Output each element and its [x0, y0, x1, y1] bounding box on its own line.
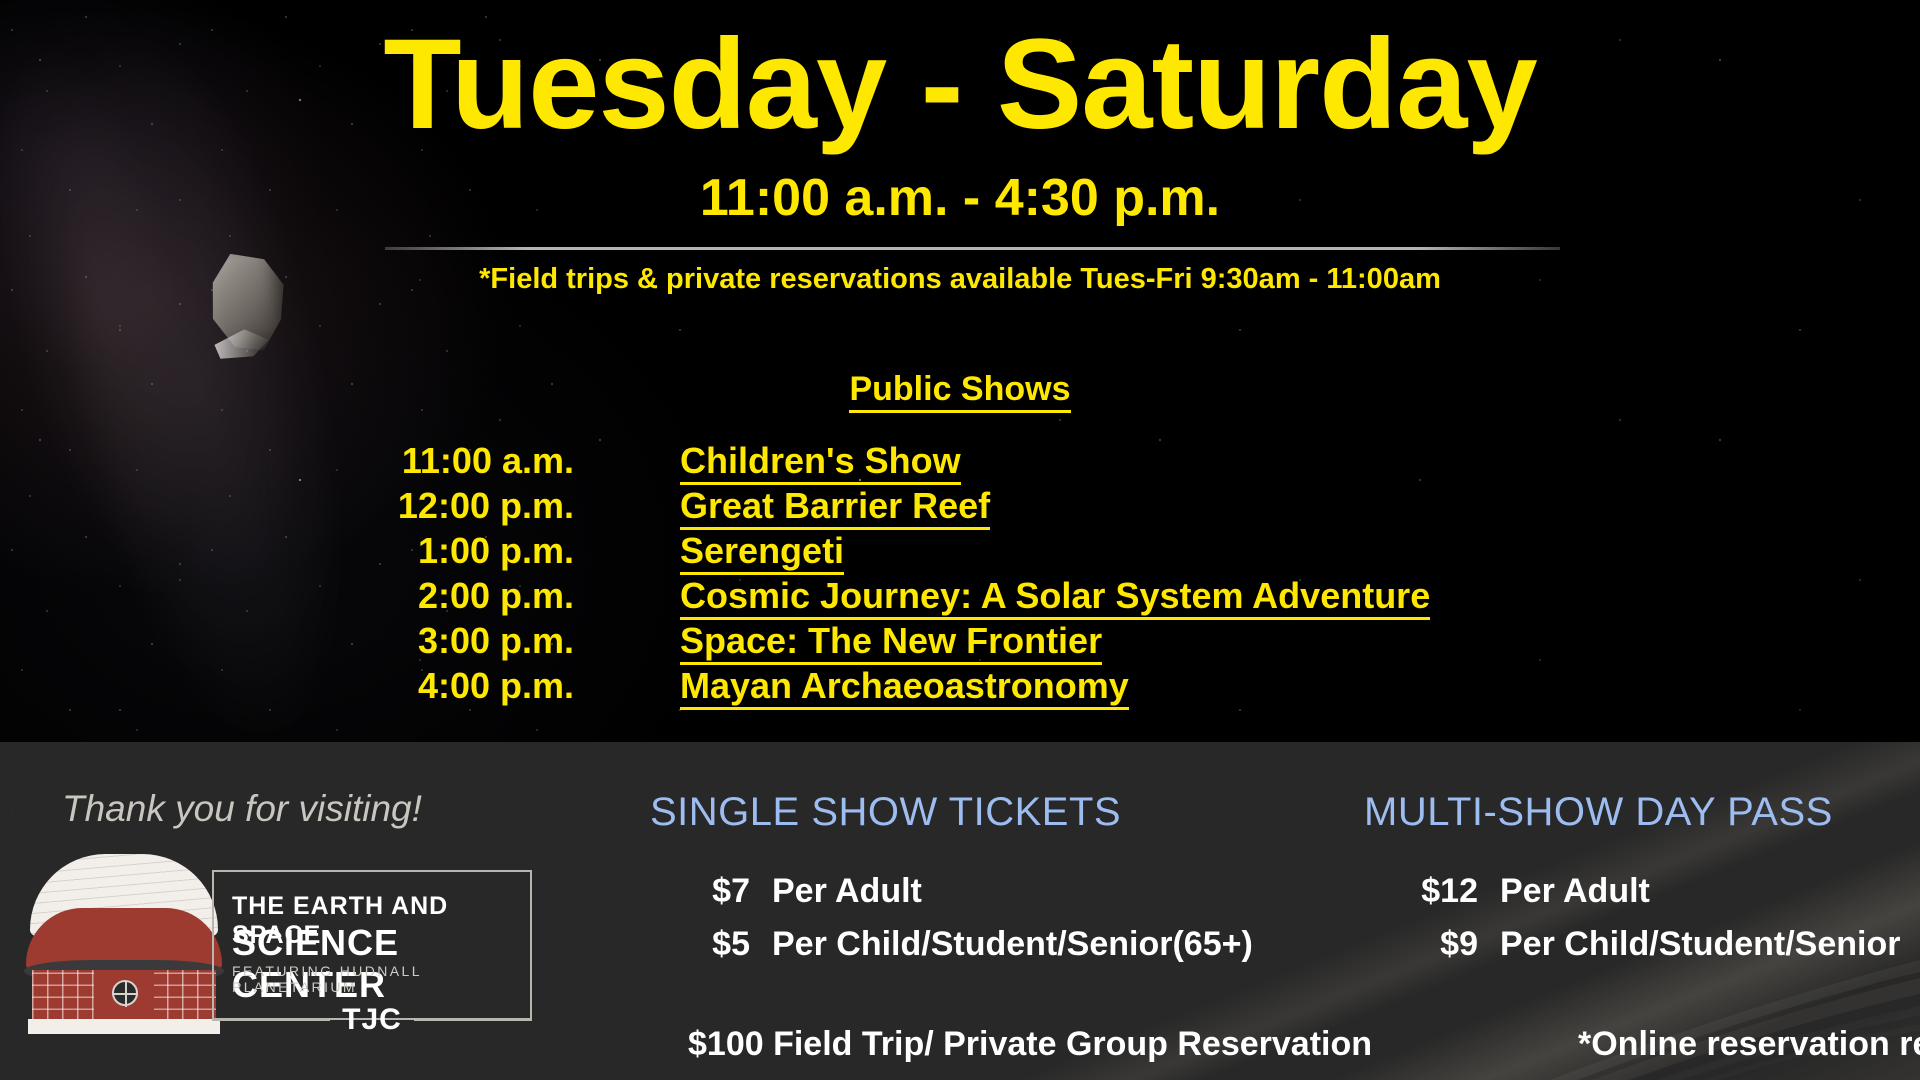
schedule-time: 2:00 p.m.	[0, 575, 680, 617]
show-schedule-list: 11:00 a.m. Children's Show 12:00 p.m. Gr…	[0, 440, 1920, 710]
schedule-row[interactable]: 12:00 p.m. Great Barrier Reef	[0, 485, 1920, 530]
price-label: Per Child/Student/Senior(65+)	[772, 925, 1253, 964]
schedule-time: 3:00 p.m.	[0, 620, 680, 662]
schedule-title-label: Children's Show	[680, 440, 961, 485]
price-amount: $9	[1396, 925, 1478, 964]
single-show-heading: SINGLE SHOW TICKETS	[650, 790, 1121, 835]
price-row-multi-child: $9 Per Child/Student/Senior	[1396, 925, 1900, 964]
schedule-title-label: Cosmic Journey: A Solar System Adventure	[680, 575, 1430, 620]
field-trip-price-line: $100 Field Trip/ Private Group Reservati…	[688, 1025, 1372, 1064]
divider	[385, 247, 1560, 250]
multi-show-heading: MULTI-SHOW DAY PASS	[1364, 790, 1833, 835]
price-row-single-adult: $7 Per Adult	[688, 872, 922, 911]
public-shows-heading-label: Public Shows	[849, 370, 1070, 413]
schedule-title: Mayan Archaeoastronomy	[680, 665, 1129, 707]
schedule-row[interactable]: 1:00 p.m. Serengeti	[0, 530, 1920, 575]
logo-line-3: FEATURING HUDNALL PLANETARIUM	[232, 963, 538, 995]
price-amount: $7	[688, 872, 750, 911]
planetarium-dome-icon	[24, 852, 224, 1034]
price-amount: $12	[1396, 872, 1478, 911]
price-label: Per Adult	[1500, 872, 1650, 911]
schedule-title-label: Great Barrier Reef	[680, 485, 990, 530]
schedule-time: 1:00 p.m.	[0, 530, 680, 572]
dome-base	[28, 1019, 220, 1034]
schedule-title: Children's Show	[680, 440, 961, 482]
schedule-title-label: Serengeti	[680, 530, 844, 575]
hero-section: Tuesday - Saturday 11:00 a.m. - 4:30 p.m…	[0, 0, 1920, 745]
schedule-row[interactable]: 4:00 p.m. Mayan Archaeoastronomy	[0, 665, 1920, 710]
schedule-row[interactable]: 2:00 p.m. Cosmic Journey: A Solar System…	[0, 575, 1920, 620]
organization-logo: THE EARTH AND SPACE SCIENCE CENTER FEATU…	[18, 852, 538, 1047]
hours-text: 11:00 a.m. - 4:30 p.m.	[0, 170, 1920, 227]
schedule-time: 4:00 p.m.	[0, 665, 680, 707]
schedule-time: 12:00 p.m.	[0, 485, 680, 527]
schedule-title: Great Barrier Reef	[680, 485, 990, 527]
price-row-multi-adult: $12 Per Adult	[1396, 872, 1650, 911]
price-label: Per Child/Student/Senior	[1500, 925, 1900, 964]
schedule-title: Serengeti	[680, 530, 844, 572]
schedule-title: Space: The New Frontier	[680, 620, 1102, 662]
field-trip-note: *Field trips & private reservations avai…	[0, 263, 1920, 296]
poster-canvas: Tuesday - Saturday 11:00 a.m. - 4:30 p.m…	[0, 0, 1920, 1080]
tjc-label: TJC	[342, 1003, 402, 1037]
tjc-rule-left	[212, 1019, 330, 1021]
thank-you-message: Thank you for visiting!	[62, 788, 422, 830]
online-reservation-note: *Online reservation required	[1578, 1025, 1920, 1064]
price-label: Per Adult	[772, 872, 922, 911]
tjc-lockup: TJC	[212, 1000, 532, 1040]
public-shows-heading: Public Shows	[0, 370, 1920, 409]
price-amount: $5	[688, 925, 750, 964]
schedule-title: Cosmic Journey: A Solar System Adventure	[680, 575, 1430, 617]
page-title: Tuesday - Saturday	[0, 18, 1920, 151]
schedule-title-label: Space: The New Frontier	[680, 620, 1102, 665]
schedule-time: 11:00 a.m.	[0, 440, 680, 482]
schedule-row[interactable]: 11:00 a.m. Children's Show	[0, 440, 1920, 485]
schedule-row[interactable]: 3:00 p.m. Space: The New Frontier	[0, 620, 1920, 665]
dome-porthole-icon	[112, 980, 138, 1006]
schedule-title-label: Mayan Archaeoastronomy	[680, 665, 1129, 710]
price-row-single-child: $5 Per Child/Student/Senior(65+)	[688, 925, 1253, 964]
tjc-rule-right	[414, 1019, 532, 1021]
